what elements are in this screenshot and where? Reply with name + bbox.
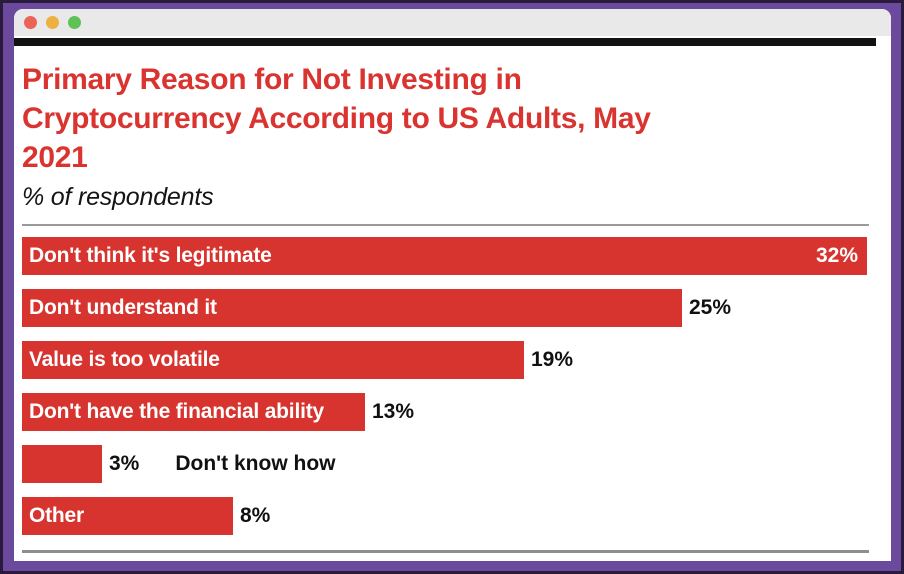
bar-value: 19% — [531, 348, 573, 372]
bar-label: Don't know how — [175, 452, 335, 476]
bar-label: Don't think it's legitimate — [29, 244, 272, 268]
bar-value: 8% — [240, 504, 270, 528]
bar-value: 32% — [816, 244, 858, 268]
bar-label: Value is too volatile — [29, 348, 220, 372]
bar-row: Other8% — [22, 497, 891, 535]
header-divider — [22, 224, 869, 226]
top-accent-bar — [14, 38, 876, 46]
page-title: Primary Reason for Not Investing in Cryp… — [22, 46, 722, 177]
bar-label: Don't have the financial ability — [29, 400, 324, 424]
bar-segment[interactable] — [22, 445, 102, 483]
browser-window: Primary Reason for Not Investing in Cryp… — [14, 9, 891, 561]
outer-frame: Primary Reason for Not Investing in Cryp… — [0, 0, 904, 574]
minimize-button[interactable] — [46, 16, 59, 29]
bar-segment[interactable]: Other — [22, 497, 233, 535]
bar-row: Don't understand it25% — [22, 289, 891, 327]
bar-value: 13% — [372, 400, 414, 424]
bar-segment[interactable]: Value is too volatile — [22, 341, 524, 379]
footer-divider — [22, 550, 869, 553]
window-titlebar — [14, 9, 891, 36]
bar-label: Other — [29, 504, 84, 528]
bar-segment[interactable]: Don't understand it — [22, 289, 682, 327]
bar-row: 3%Don't know how — [22, 445, 891, 483]
bar-segment[interactable]: Don't have the financial ability — [22, 393, 365, 431]
bar-chart: Don't think it's legitimate32%Don't unde… — [22, 237, 891, 535]
bar-row: Don't have the financial ability13% — [22, 393, 891, 431]
bar-row: Don't think it's legitimate32% — [22, 237, 891, 275]
close-button[interactable] — [24, 16, 37, 29]
chart-content: Primary Reason for Not Investing in Cryp… — [14, 46, 891, 561]
chart-subtitle: % of respondents — [22, 183, 891, 212]
bar-row: Value is too volatile19% — [22, 341, 891, 379]
bar-value: 3% — [109, 452, 139, 476]
bar-segment[interactable]: Don't think it's legitimate32% — [22, 237, 867, 275]
maximize-button[interactable] — [68, 16, 81, 29]
bar-value: 25% — [689, 296, 731, 320]
bar-label: Don't understand it — [29, 296, 217, 320]
